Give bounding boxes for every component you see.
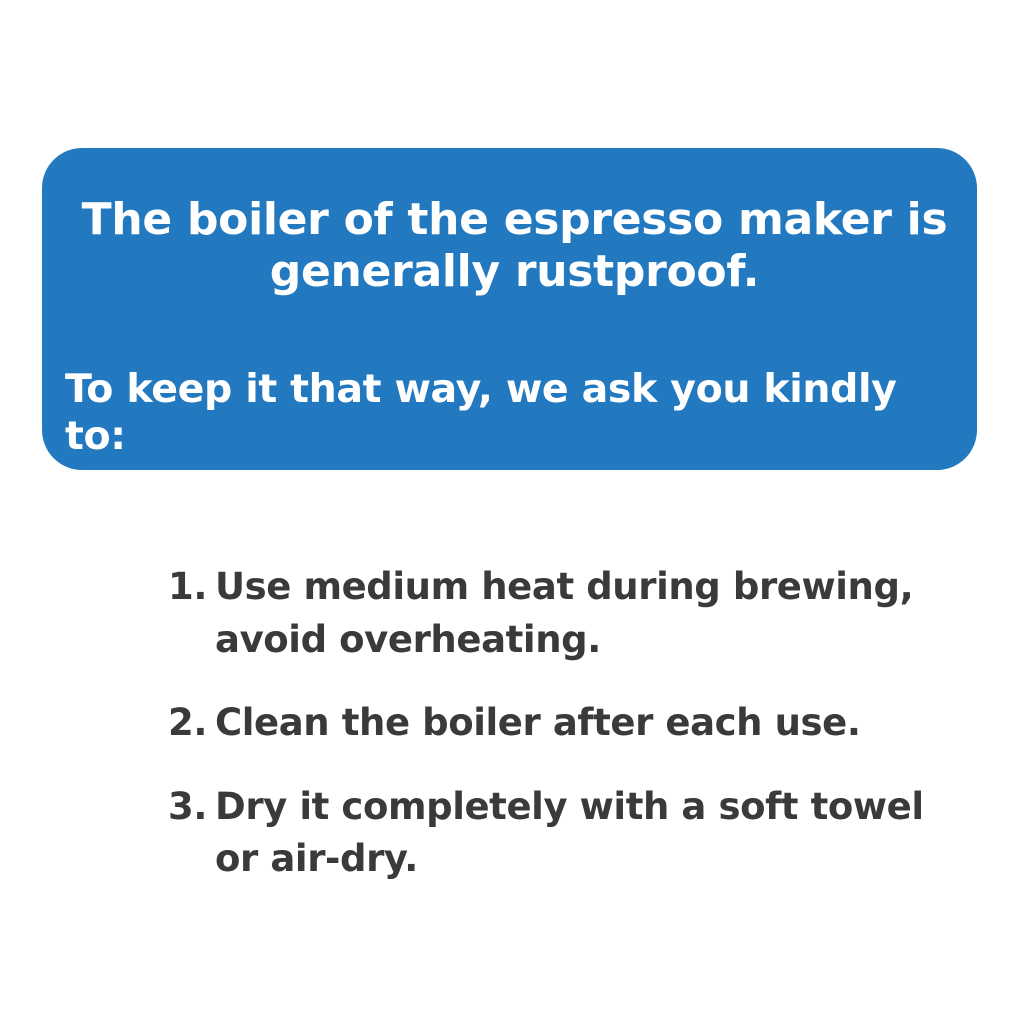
callout-card: The boiler of the espresso maker is gene… (42, 148, 977, 470)
list-item-text: Dry it completely with a soft towel or a… (215, 781, 958, 886)
list-item: 3. Dry it completely with a soft towel o… (168, 781, 958, 886)
list-item: 2. Clean the boiler after each use. (168, 697, 958, 750)
callout-heading: The boiler of the espresso maker is gene… (64, 194, 965, 298)
list-item-number: 1. (168, 561, 215, 614)
page-root: The boiler of the espresso maker is gene… (0, 0, 1024, 1024)
list-item: 1. Use medium heat during brewing, avoid… (168, 561, 958, 666)
callout-subtext: To keep it that way, we ask you kindly t… (65, 366, 965, 461)
list-item-number: 3. (168, 781, 215, 834)
instruction-list: 1. Use medium heat during brewing, avoid… (128, 561, 958, 886)
list-item-text: Clean the boiler after each use. (215, 697, 958, 750)
list-item-number: 2. (168, 697, 215, 750)
list-item-text: Use medium heat during brewing, avoid ov… (215, 561, 958, 666)
